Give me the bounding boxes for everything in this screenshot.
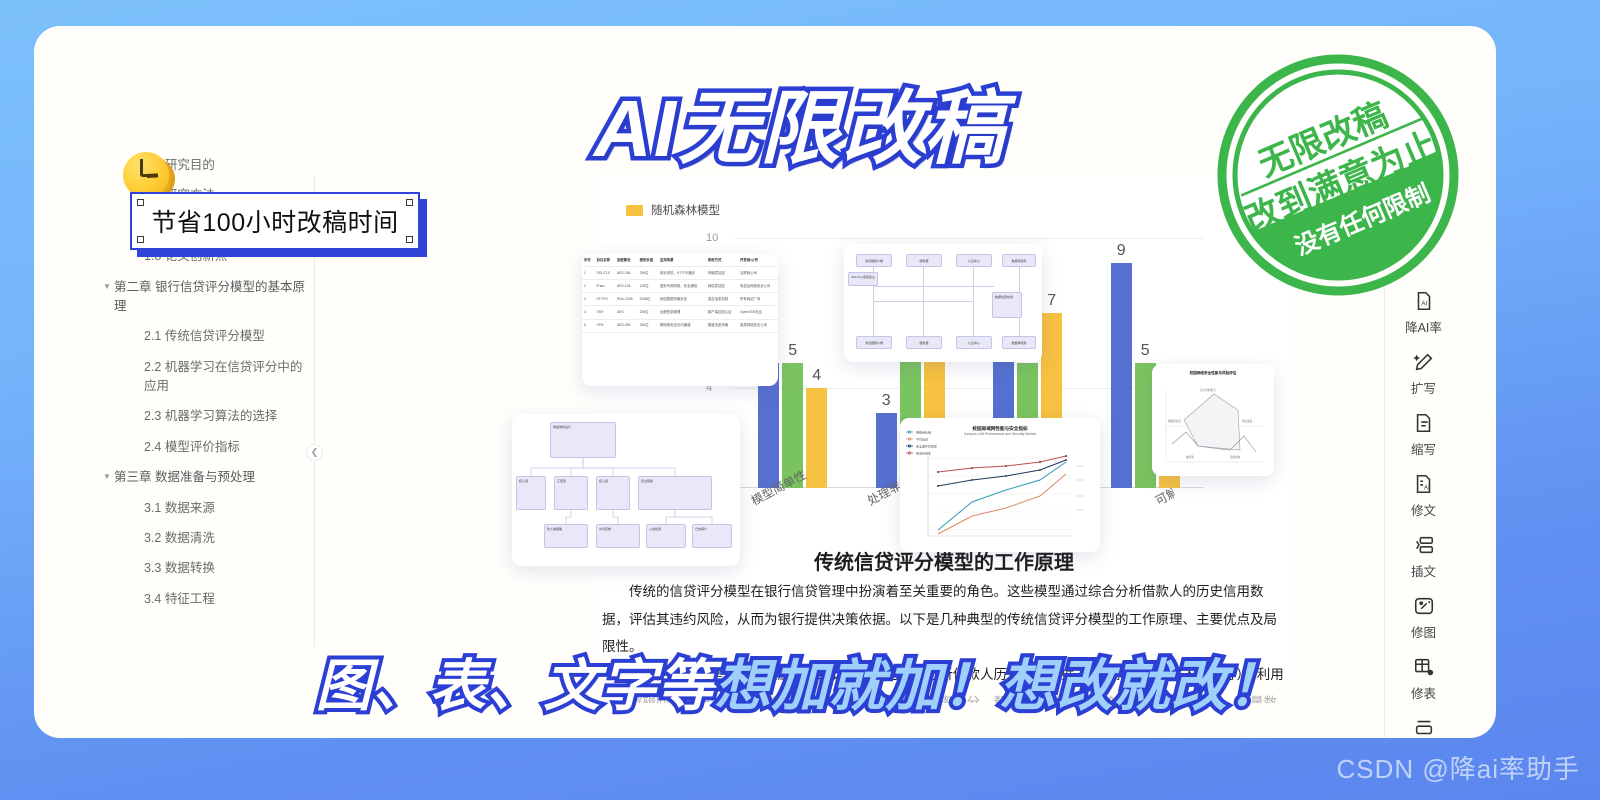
table-cell: OpenSSH社区 [738,306,778,319]
seq-node: 服务器 [906,254,942,267]
rail-item-2[interactable]: 缩写 [1393,410,1455,458]
table-header-cell: 密钥长度 [638,254,658,267]
rail-item-label: 插文 [1411,561,1436,580]
table-cell: SSH [594,306,614,319]
bar: 9 [1111,263,1132,488]
seq-node: 数据库服务 [1002,254,1036,267]
seq-node: 数据库服务 [1002,336,1036,349]
ytick-10: 10 [706,232,718,244]
chart-legend: 随机森林模型 [626,202,720,218]
table-cell: 网络层加密 [706,280,738,293]
seq-node: 服务器 [906,336,942,349]
table-cell: AES-256 [615,319,638,332]
table-header-cell: 协议名称 [594,254,614,267]
table-row: 1SSL/TLSAES-256256位网页浏览、HTTPS通信传输层加密互联网公… [582,267,778,280]
toc-item-label: 2.4 模型评价指标 [114,438,306,457]
table-cell: 128位 [638,280,658,293]
toc-item-label: 3.1 数据来源 [114,499,306,518]
guarantee-stamp: 无限改稿 改到满意为止 没有任何限制 [1215,52,1461,298]
floating-radar-card: 校园网络安全性能与风险评估 安全防护能力 网络稳定性 响应速度 故障率 运维成本 [1152,364,1274,476]
svg-text:AI: AI [1421,301,1427,308]
table-cell: 客户端加密认证 [706,306,738,319]
toc-item-3[interactable]: ▼1.8 论文创新点 [100,247,306,266]
rail-item-4[interactable]: 插文 [1393,532,1455,580]
toc-item-label: 2.3 机器学习算法的选择 [114,407,306,426]
table-cell: 互联网公司 [738,267,778,280]
svg-text:AI: AI [1424,486,1430,492]
floating-table-card: 序号 协议名称 加密算法 密钥长度 应用场景 采用方式 开发商/公司 1SSL/… [582,254,778,386]
doc-minus-icon [1411,410,1437,436]
svg-text:运维成本: 运维成本 [1230,455,1241,459]
floating-line-chart-card: 校园局域网性能与安全指标 Campus LAN Performance and … [900,418,1100,552]
toc-item-11[interactable]: ▼3.2 数据清洗 [100,529,306,548]
toc-item-5[interactable]: ▼2.1 传统信贷评分模型 [100,327,306,346]
clock-hand [140,159,149,177]
table-header-cell: 加密算法 [615,254,638,267]
seq-node: 浏览器客户端 [856,336,892,349]
toc-item-8[interactable]: ▼2.4 模型评价指标 [100,438,306,457]
bar-value: 7 [1047,292,1056,310]
seq-message [874,286,994,287]
layout-icon [1411,715,1437,738]
table-header-cell: 采用方式 [706,254,738,267]
x-tick-label: 可解释性 [1152,485,1178,509]
table-header-cell: 开发商/公司 [738,254,778,267]
document-body: 传统的信贷评分模型在银行信贷管理中扮演着至关重要的角色。这些模型通过综合分析借款… [602,578,1286,703]
rail-item-label: 降AI率 [1405,317,1442,336]
table-cell: 隧道加密传输 [706,319,738,332]
svg-text:响应速度: 响应速度 [1242,419,1253,423]
radar-chart-title: 校园网络安全性能与风险评估 [1152,371,1274,376]
table-cell: AES-128 [615,280,638,293]
callout-text: 节省100小时改稿时间 [132,203,418,239]
resize-handle-br[interactable] [406,236,413,243]
rail-item-6[interactable]: 修表 [1393,654,1455,702]
resize-handle-tl[interactable] [137,199,144,206]
toc-item-6[interactable]: ▼2.2 机器学习在信贷评分中的应用 [100,358,306,397]
callout-box: 节省100小时改稿时间 [130,192,420,250]
table-cell: SSL/TLS [594,267,614,280]
table-header-row: 序号 协议名称 加密算法 密钥长度 应用场景 采用方式 开发商/公司 [582,254,778,267]
bar-value: 9 [1117,242,1126,260]
toc-item-12[interactable]: ▼3.3 数据转换 [100,559,306,578]
insert-block-icon [1411,532,1437,558]
document-paragraph: 传统的信贷评分模型在银行信贷管理中扮演着至关重要的角色。这些模型通过综合分析借款… [602,578,1286,661]
chevron-left-icon: ❮ [311,447,319,457]
toc-collapse-button[interactable]: ❮ [306,444,323,461]
table-row: 3HTTPSRSA-20482048位网站数据传输安全混合加密机制所有网站厂商 [582,293,778,306]
table-cell: 1 [582,267,594,280]
floating-tree-card: 网络架构设计 核心层 汇聚层 接入层 安全措施 防火墙策略 访问控制 入侵检测 … [512,414,740,566]
bar-value: 3 [882,392,891,410]
seq-node: 浏览器客户端 [856,254,892,267]
svg-text:平均延迟: 平均延迟 [916,437,928,442]
bar: 4 [806,388,827,488]
tree-connectors [512,414,740,566]
table-cell: 256位 [638,267,658,280]
toc-item-label: 第三章 数据准备与预处理 [114,468,306,487]
table-cell: 跨网络安全访问通道 [658,319,706,332]
table-header-cell: 序号 [582,254,594,267]
table-cell: 混合加密机制 [706,293,738,306]
table-cell: 4 [582,306,594,319]
chevron-down-icon[interactable]: ▼ [100,278,114,296]
table-row: 2IPsecAES-128128位虚拟专用网络、安全通信网络层加密电信及网络安全… [582,280,778,293]
stamp-svg: 无限改稿 改到满意为止 没有任何限制 [1215,52,1461,298]
toc-item-10[interactable]: ▼3.1 数据来源 [100,499,306,518]
table-cell: 电信及网络安全公司 [738,280,778,293]
table-cell: VPN [594,319,614,332]
table-cell: 传输层加密 [706,267,738,280]
rail-item-label: 缩写 [1411,439,1436,458]
document-paragraph: 逻辑回归模型是一种广泛应用的统计模型，它通过分析借款人历史信用数据（如还款记录、… [602,661,1286,689]
table-cell: 2048位 [638,293,658,306]
table-cell: AES-256 [615,267,638,280]
radar-chart-svg: 安全防护能力 网络稳定性 响应速度 故障率 运维成本 [1152,382,1274,474]
table-cell: 所有网站厂商 [738,293,778,306]
legend-label-random-forest: 随机森林模型 [651,202,720,218]
bar-value: 5 [1141,342,1150,360]
toc-item-9[interactable]: ▼第三章 数据准备与预处理 [100,468,306,487]
table-cell: HTTPS [594,293,614,306]
toc-item-4[interactable]: ▼第二章 银行信贷评分模型的基本原理 [100,278,306,317]
svg-text:故障率: 故障率 [1186,455,1194,459]
image-edit-icon [1411,593,1437,619]
toc-item-label: 3.4 特征工程 [114,590,306,609]
table-cell: 虚拟专用网络、安全通信 [658,280,706,293]
table-cell: 网站数据传输安全 [658,293,706,306]
rail-item-1[interactable]: 扩写 [1393,349,1455,397]
table-cell: 3 [582,293,594,306]
table-cell: IPsec [594,280,614,293]
rail-item-label: 修图 [1411,622,1436,641]
toc-item-label: 3.2 数据清洗 [114,529,306,548]
svg-text:安全事件拦截率: 安全事件拦截率 [916,444,937,449]
seq-note: 数据加密校验 [992,292,1022,318]
watermark: CSDN @降ai率助手 [1336,749,1580,786]
pencil-sparkle-icon [1411,349,1437,375]
svg-text:网络稳定性: 网络稳定性 [1168,419,1181,423]
table-cell: RSA-2048 [615,293,638,306]
bar-value: 5 [788,342,797,360]
table-cell: 2 [582,280,594,293]
table-cell: 网页浏览、HTTPS通信 [658,267,706,280]
doc-ai-edit-icon: AI [1411,471,1437,497]
chevron-down-icon[interactable]: ▼ [100,468,114,486]
toc-item-label: 2.1 传统信贷评分模型 [114,327,306,346]
table-cell: 256位 [638,306,658,319]
table-cell: 5 [582,319,594,332]
seq-note: SSL/TLS连接建立 [848,272,878,286]
seq-node: 认证中心 [956,336,992,349]
rail-item-label: 修表 [1411,683,1436,702]
table-cell: 256位 [638,319,658,332]
toc-item-label: 3.3 数据转换 [114,559,306,578]
svg-text:带宽利用率: 带宽利用率 [916,451,931,456]
line-chart-legend: 网络吞吐量平均延迟 安全事件拦截率带宽利用率 [904,428,964,456]
rail-item-5[interactable]: 修图 [1393,593,1455,641]
table-cell: AES [615,306,638,319]
rail-item-7[interactable]: 插图 [1393,715,1455,738]
rail-item-label: 扩写 [1411,378,1436,397]
toc-item-13[interactable]: ▼3.4 特征工程 [100,590,306,609]
resize-handle-tr[interactable] [406,199,413,206]
svg-text:网络吞吐量: 网络吞吐量 [916,430,931,435]
table-cell: 远程登录管理 [658,306,706,319]
decorative-table: 序号 协议名称 加密算法 密钥长度 应用场景 采用方式 开发商/公司 1SSL/… [582,254,778,333]
legend-swatch-random-forest [626,205,643,216]
resize-handle-bl[interactable] [137,236,144,243]
tool-rail[interactable]: AI降AI率扩写缩写AI修文插文修图修表插图 [1384,282,1462,738]
seq-message [874,301,974,302]
svg-text:安全防护能力: 安全防护能力 [1200,388,1216,392]
table-row: 5VPNAES-256256位跨网络安全访问通道隧道加密传输各类网络安全公司 [582,319,778,332]
table-gear-icon [1411,654,1437,680]
toc-item-label: 第二章 银行信贷评分模型的基本原理 [114,278,306,317]
toc-item-label: 1.8 论文创新点 [114,247,306,266]
seq-node: 认证中心 [956,254,992,267]
rail-item-3[interactable]: AI修文 [1393,471,1455,519]
toc-item-7[interactable]: ▼2.3 机器学习算法的选择 [100,407,306,426]
table-cell: 各类网络安全公司 [738,319,778,332]
rail-item-label: 修文 [1411,500,1436,519]
line-chart-svg [900,446,1100,550]
bar-value: 4 [812,367,821,385]
toc-item-label: 2.2 机器学习在信贷评分中的应用 [114,358,306,397]
floating-sequence-card: 浏览器客户端 服务器 认证中心 数据库服务 浏览器客户端 服务器 认证中心 数据… [844,244,1042,362]
table-header-cell: 应用场景 [658,254,706,267]
table-row: 4SSHAES256位远程登录管理客户端加密认证OpenSSH社区 [582,306,778,319]
